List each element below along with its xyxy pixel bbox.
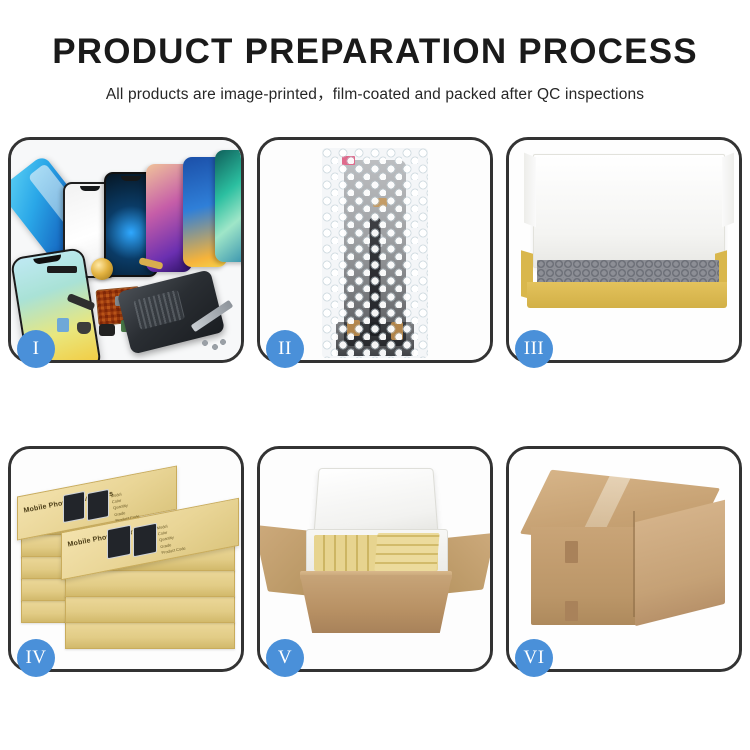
notch-shape (121, 176, 141, 181)
box-artwork-screen-image (63, 491, 85, 523)
phone-screen-fan-image (63, 154, 241, 274)
box-artwork-screen-image (107, 525, 131, 560)
step-badge-4: IV (17, 639, 55, 677)
carton-seam-image (565, 601, 578, 621)
step-panel-components-and-screens[interactable]: I (8, 137, 244, 363)
carton-body-image (300, 575, 452, 633)
coil-part-image (91, 258, 113, 280)
notch-shape (80, 186, 100, 191)
yellow-box-front-image (527, 282, 727, 308)
small-part-image (77, 322, 91, 334)
step-badge-2: II (266, 330, 304, 368)
bubble-texture-overlay (322, 148, 428, 358)
small-part-image (57, 318, 69, 332)
stacked-box-image (65, 621, 235, 649)
speaker-part-image (47, 266, 77, 273)
step-panel-bubble-wrap-packing[interactable]: II (257, 137, 493, 363)
carton-side-face-image (635, 500, 725, 626)
screws-image (201, 338, 227, 352)
step-image-components-and-screens (11, 140, 241, 360)
page-title: PRODUCT PREPARATION PROCESS (0, 34, 750, 69)
step-badge-6: VI (515, 639, 553, 677)
page-header: PRODUCT PREPARATION PROCESS All products… (0, 0, 750, 104)
phone-screen-teal (215, 150, 241, 262)
step-badge-5: V (266, 639, 304, 677)
step-image-carton-loading (260, 449, 490, 669)
packed-yellow-boxes-image (374, 533, 439, 571)
carton-seam-image (565, 541, 578, 563)
step-image-boxed-stack: Mobile Phone Spare Parts Model Color Qua… (11, 449, 241, 669)
small-part-image (99, 324, 115, 336)
step-badge-3: III (515, 330, 553, 368)
process-step-grid: I II (8, 137, 742, 672)
page-subtitle: All products are image-printed，film-coat… (0, 82, 750, 104)
carton-edge-line (633, 511, 635, 617)
step-panel-carton-loading[interactable]: V (257, 446, 493, 672)
step-badge-1: I (17, 330, 55, 368)
box-artwork-screen-image (87, 489, 109, 521)
step-image-bubble-wrap-packing (260, 140, 490, 360)
step-image-inner-box-padding (509, 140, 739, 360)
step-panel-sealed-carton[interactable]: VI (506, 446, 742, 672)
bubble-wrap-pouch-image (322, 148, 428, 358)
box-stack-image: Mobile Phone Spare Parts Model Color Qua… (17, 467, 241, 657)
carton-front-face-image (531, 527, 637, 625)
step-image-sealed-carton (509, 449, 739, 669)
box-artwork-screen-image (133, 523, 157, 558)
stacked-box-image (65, 595, 235, 623)
white-box-lid-image (533, 154, 725, 268)
step-panel-inner-box-padding[interactable]: III (506, 137, 742, 363)
step-panel-boxed-stack[interactable]: Mobile Phone Spare Parts Model Color Qua… (8, 446, 244, 672)
